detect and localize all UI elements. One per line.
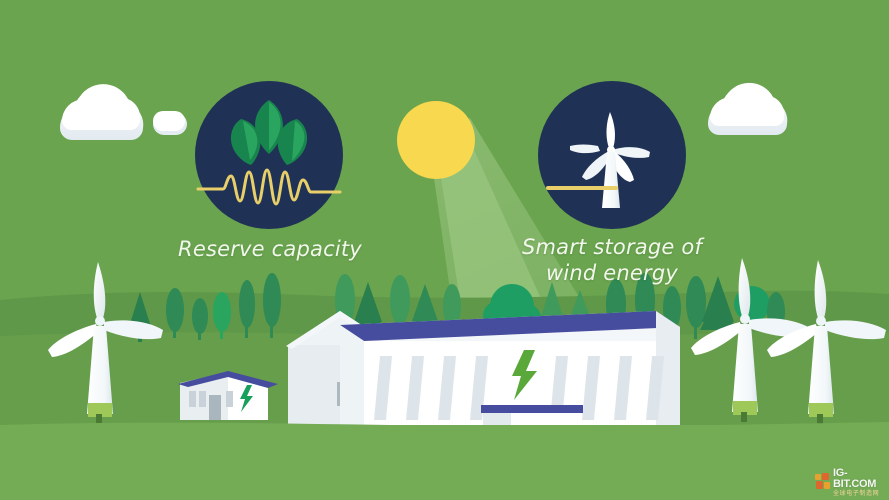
ground-curve: [0, 422, 889, 500]
illustration-canvas: Reserve capacity Smart storage of wind e…: [0, 0, 889, 500]
sun-icon: [397, 101, 475, 179]
watermark-subtitle: 全球电子制造网: [833, 491, 887, 497]
ig-bit-logo-icon: [815, 473, 831, 491]
badge-smart-storage[interactable]: [538, 81, 686, 229]
cloud-small-left: [153, 111, 187, 135]
badge-reserve-capacity[interactable]: [195, 81, 343, 229]
watermark-title: IG-BIT.COM: [833, 468, 887, 490]
yellow-bar-icon: [546, 186, 618, 190]
watermark-text: IG-BIT.COM 全球电子制造网: [833, 468, 887, 497]
scene-svg: [0, 0, 889, 500]
battery-storage-facility: [286, 311, 680, 436]
ig-bit-watermark: IG-BIT.COM 全球电子制造网: [815, 470, 887, 494]
